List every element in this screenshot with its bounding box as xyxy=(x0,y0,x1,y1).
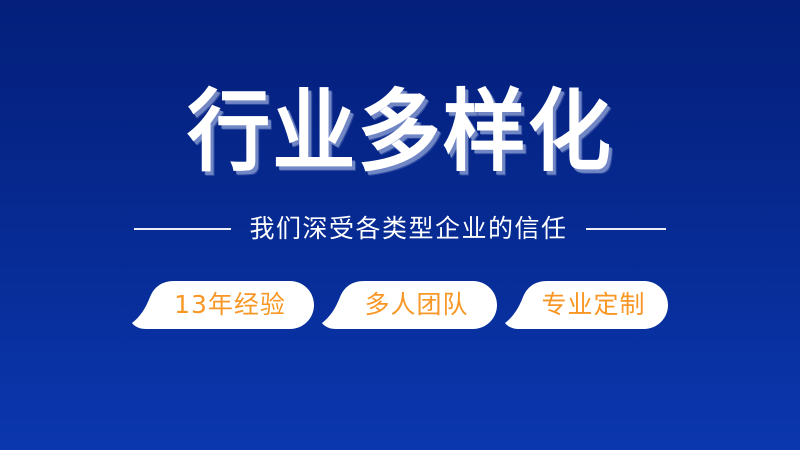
hero-banner: 行业多样化 我们深受各类型企业的信任 13年经验 多人团队 xyxy=(0,0,800,450)
badge-team[interactable]: 多人团队 xyxy=(322,281,497,329)
title-block: 行业多样化 xyxy=(0,88,800,176)
page-subtitle: 我们深受各类型企业的信任 xyxy=(249,212,567,246)
divider-line-right xyxy=(586,228,666,230)
subtitle-row: 我们深受各类型企业的信任 xyxy=(0,212,800,246)
divider-line-left xyxy=(134,228,231,230)
page-title: 行业多样化 xyxy=(187,85,613,178)
badge-custom-label: 专业定制 xyxy=(541,291,645,319)
badge-experience[interactable]: 13年经验 xyxy=(132,281,314,329)
badge-team-label: 多人团队 xyxy=(364,291,468,319)
badge-custom[interactable]: 专业定制 xyxy=(505,281,668,329)
badge-row: 13年经验 多人团队 专业定制 xyxy=(0,281,800,329)
badge-experience-label: 13年经验 xyxy=(174,291,286,319)
